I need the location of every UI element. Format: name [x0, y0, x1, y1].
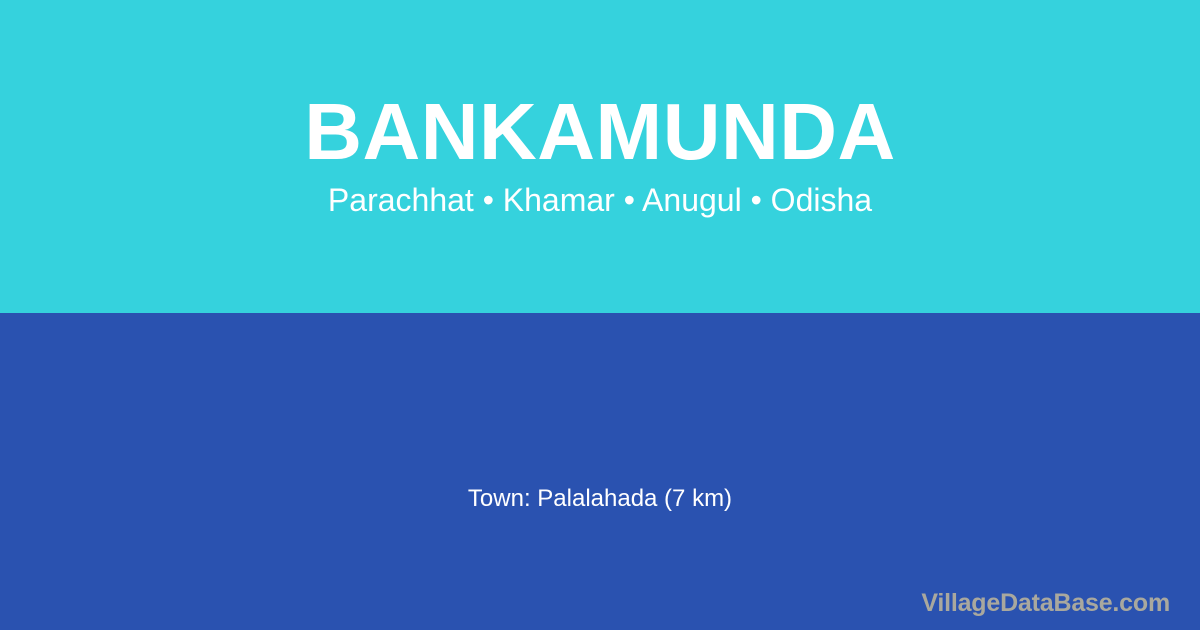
details-band: Town: Palalahada (7 km) VillageDataBase.…: [0, 313, 1200, 630]
breadcrumb: Parachhat • Khamar • Anugul • Odisha: [0, 184, 1200, 216]
header-band: BANKAMUNDA Parachhat • Khamar • Anugul •…: [0, 0, 1200, 313]
page-title: BANKAMUNDA: [0, 92, 1200, 172]
village-info-card: BANKAMUNDA Parachhat • Khamar • Anugul •…: [0, 0, 1200, 630]
nearest-town-text: Town: Palalahada (7 km): [0, 487, 1200, 511]
site-watermark: VillageDataBase.com: [921, 591, 1170, 616]
